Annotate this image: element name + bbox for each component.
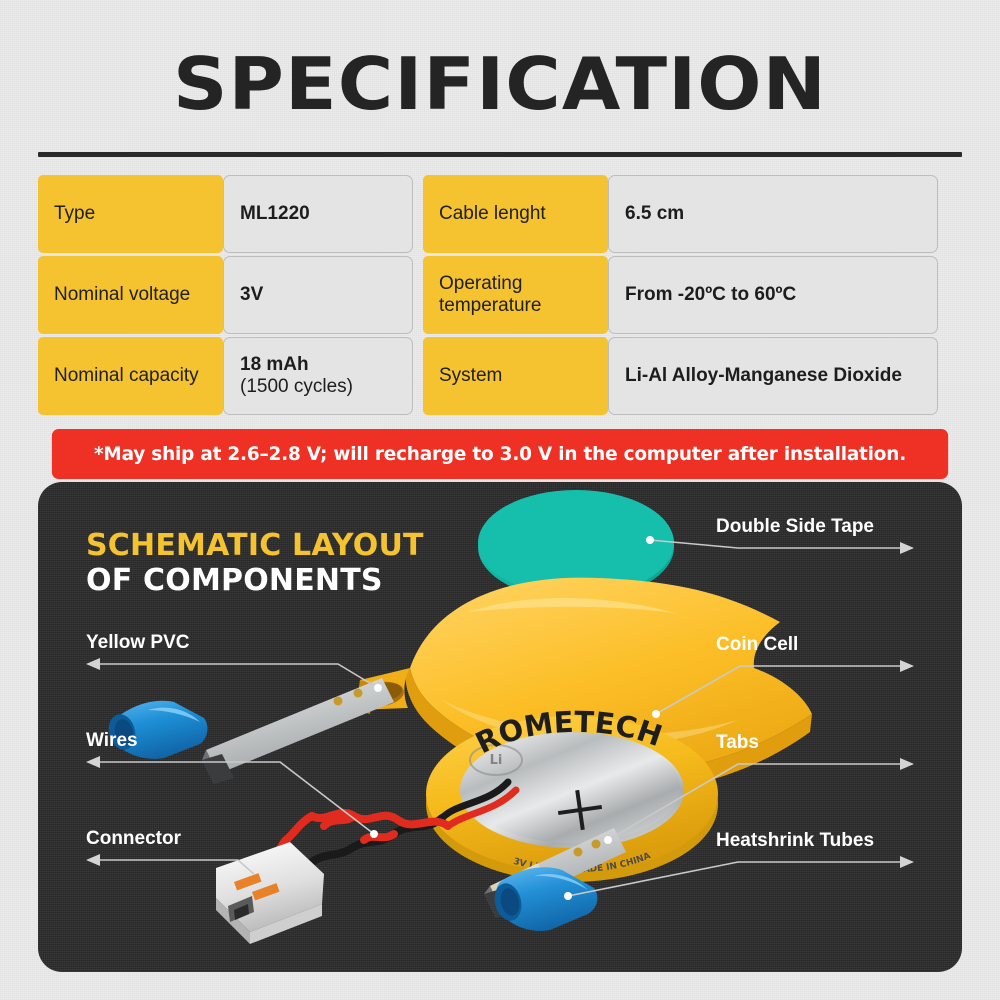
column-gap: [413, 337, 423, 415]
column-gap: [413, 175, 423, 253]
column-gap: [413, 256, 423, 334]
tab-upper-part: [202, 678, 394, 784]
callout-coin-cell: Coin Cell: [716, 634, 798, 656]
callout-wires: Wires: [86, 730, 138, 752]
spec-value-nominal-voltage: 3V: [223, 256, 413, 334]
spec-label-type: Type: [38, 175, 223, 253]
capacity-cycles: (1500 cycles): [240, 376, 353, 397]
connector-part: [216, 842, 324, 944]
spec-label-nominal-voltage: Nominal voltage: [38, 256, 223, 334]
page-title: SPECIFICATION: [0, 0, 1000, 120]
spec-value-cable-length: 6.5 cm: [608, 175, 938, 253]
component-illustration: Li ROMETECH 3V LITHIUM MADE IN CHINA: [38, 482, 962, 972]
specification-infographic: SPECIFICATION Type ML1220 Cable lenght 6…: [0, 0, 1000, 1000]
callout-tabs: Tabs: [716, 732, 759, 754]
spec-value-type: ML1220: [223, 175, 413, 253]
spec-value-operating-temperature: From -20ºC to 60ºC: [608, 256, 938, 334]
spec-label-system: System: [423, 337, 608, 415]
spec-value-system: Li-Al Alloy-Manganese Dioxide: [608, 337, 938, 415]
callout-yellow-pvc: Yellow PVC: [86, 632, 189, 654]
schematic-panel: SCHEMATIC LAYOUT OF COMPONENTS: [38, 482, 962, 972]
spec-label-nominal-capacity: Nominal capacity: [38, 337, 223, 415]
callout-connector: Connector: [86, 828, 181, 850]
title-divider: [38, 152, 962, 157]
spec-value-nominal-capacity: 18 mAh (1500 cycles): [223, 337, 413, 415]
spec-label-cable-length: Cable lenght: [423, 175, 608, 253]
specification-table: Type ML1220 Cable lenght 6.5 cm Nominal …: [38, 175, 962, 415]
spec-label-operating-temperature: Operating temperature: [423, 256, 608, 334]
callout-heatshrink-tubes: Heatshrink Tubes: [716, 830, 874, 852]
capacity-main: 18 mAh: [240, 354, 309, 375]
callout-double-side-tape: Double Side Tape: [716, 516, 874, 538]
shipping-voltage-note: *May ship at 2.6–2.8 V; will recharge to…: [52, 429, 948, 479]
